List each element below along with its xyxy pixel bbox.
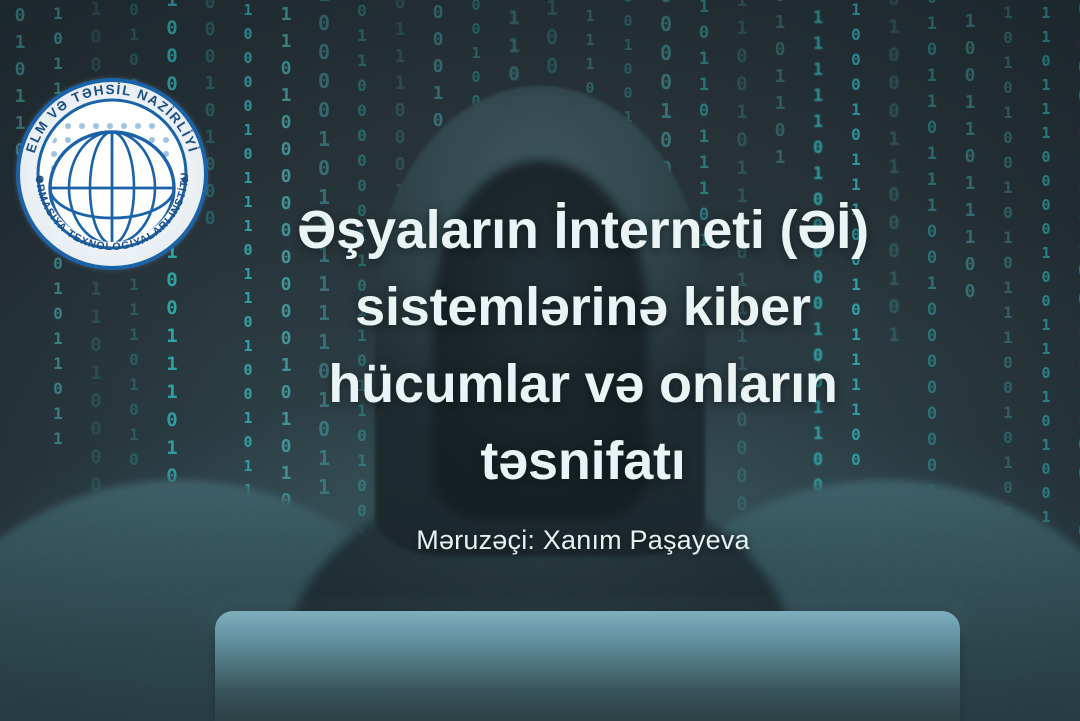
presentation-slide: 1 1 0 0 1 0 1 1 0 1 1 1 0 1 1 1 1 1 1 0 … — [0, 0, 1080, 721]
title-line-4: təsnifatı — [188, 423, 978, 500]
laptop-lid — [215, 611, 960, 721]
slide-title: Əşyaların İnterneti (Əİ) sistemlərinə ki… — [188, 192, 978, 500]
presenter-subtitle: Məruzəçi: Xanım Paşayeva — [188, 525, 978, 556]
title-line-2: sistemlərinə kiber — [188, 269, 978, 346]
title-line-3: hücumlar və onların — [188, 346, 978, 423]
institute-logo: ELM VƏ TƏHSİL NAZİRLİYİ İNFORMASİYA TEXN… — [8, 70, 216, 278]
title-line-1: Əşyaların İnterneti (Əİ) — [188, 192, 978, 269]
